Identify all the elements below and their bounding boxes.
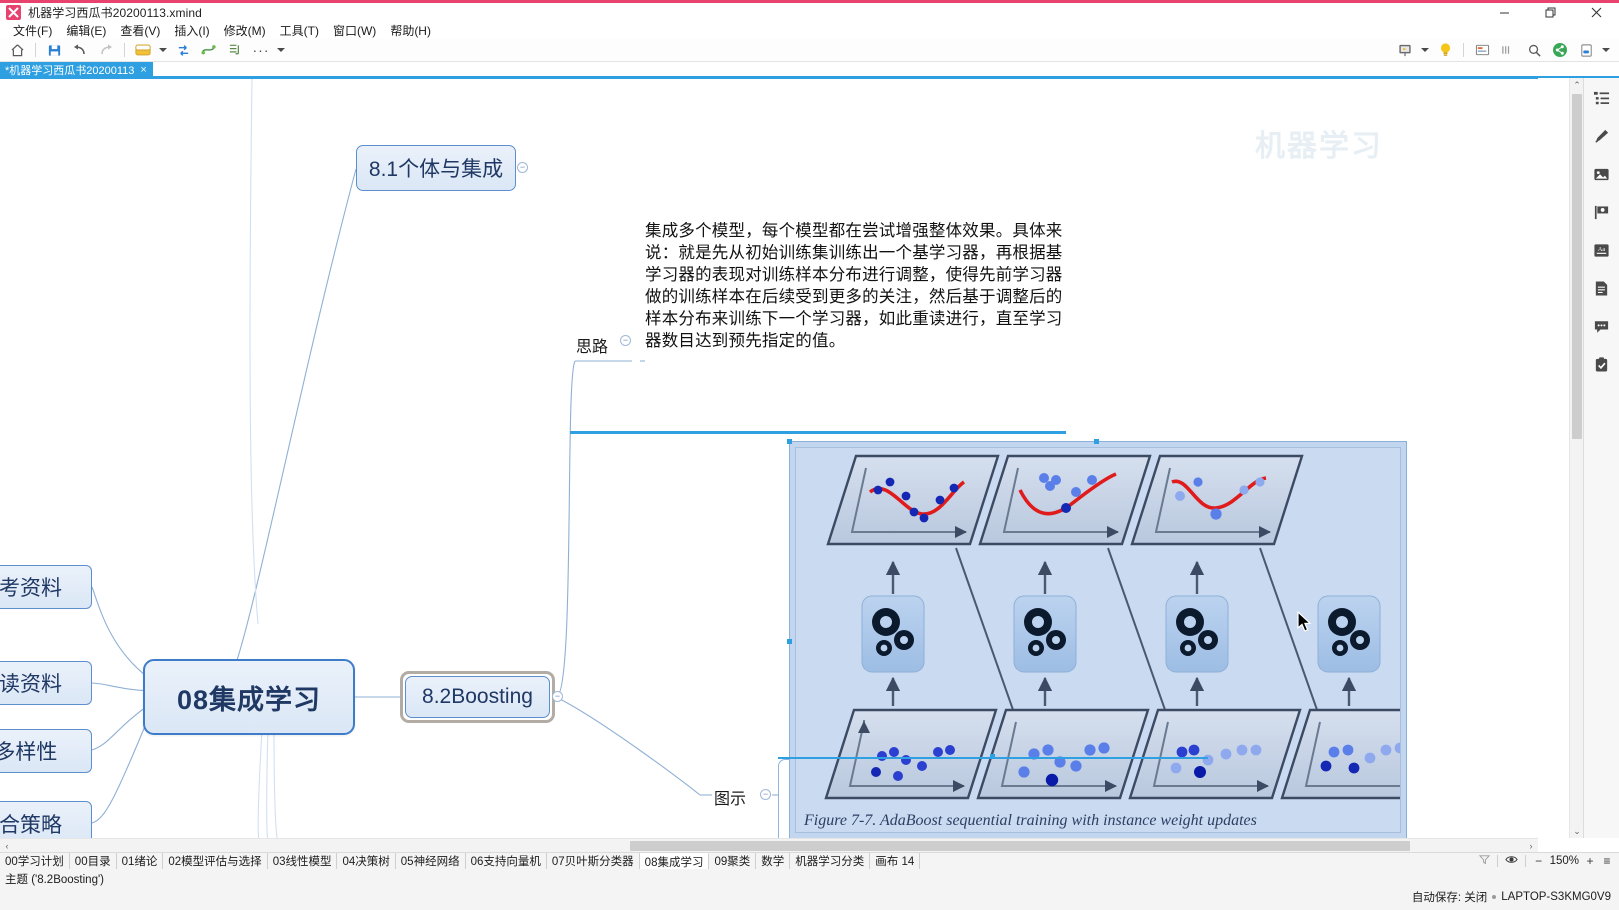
topic-diversity[interactable]: 5多样性: [0, 729, 92, 773]
mindmap-canvas[interactable]: 机器学习: [0, 78, 1538, 838]
figure-handle-top-left[interactable]: [787, 439, 792, 444]
save-icon[interactable]: [41, 40, 67, 61]
horizontal-scroll-thumb[interactable]: [630, 841, 1410, 851]
topic-8-2-boosting[interactable]: 8.2Boosting: [405, 676, 550, 718]
document-tab-close-icon[interactable]: ×: [140, 64, 146, 76]
topic-dropdown-caret-icon[interactable]: [156, 40, 170, 61]
topic-8-1-collapse-icon[interactable]: −: [517, 162, 528, 173]
figure-handle-top-center[interactable]: [1094, 439, 1099, 444]
font-icon[interactable]: Aa: [1590, 238, 1614, 262]
search-icon[interactable]: [1521, 40, 1547, 61]
sheet-tab-9-active[interactable]: 08集成学习: [640, 853, 710, 869]
stage-2: [978, 456, 1170, 798]
sheet-tab-4[interactable]: 03线性模型: [268, 853, 338, 869]
topic-8-2-boosting-selection[interactable]: 8.2Boosting: [400, 671, 555, 723]
figure-caption: Figure 7-7. AdaBoost sequential training…: [804, 812, 1257, 830]
sheet-tab-0[interactable]: 00学习计划: [0, 853, 70, 869]
toolbar: ···: [0, 39, 1619, 62]
topic-8-1-individual-and-ensemble[interactable]: 8.1个体与集成: [356, 145, 516, 191]
menu-bar: 文件(F) 编辑(E) 查看(V) 插入(I) 修改(M) 工具(T) 窗口(W…: [0, 22, 1619, 39]
image-icon[interactable]: [1590, 162, 1614, 186]
document-tab-strip: *机器学习西瓜书20200113 ×: [0, 62, 1619, 78]
central-topic-ensemble-learning[interactable]: 08集成学习: [143, 659, 355, 735]
scroll-right-icon[interactable]: ›: [1524, 839, 1538, 853]
mouse-cursor: [1297, 611, 1313, 635]
svg-text:Aa: Aa: [1598, 246, 1605, 253]
document-tab[interactable]: *机器学习西瓜书20200113 ×: [0, 62, 153, 78]
scroll-down-icon[interactable]: ⌄: [1570, 824, 1584, 838]
menu-insert[interactable]: 插入(I): [167, 23, 216, 39]
figure-handle-middle-left[interactable]: [787, 639, 792, 644]
redo-icon: [93, 40, 119, 61]
zoom-in-button[interactable]: +: [1584, 854, 1596, 868]
close-button[interactable]: [1573, 3, 1619, 22]
sheet-bar-separator-1: [1497, 855, 1498, 867]
adaboost-sequential-training-figure[interactable]: Figure 7-7. AdaBoost sequential training…: [789, 441, 1407, 838]
relationship-icon[interactable]: [196, 40, 222, 61]
status-bar: 主题 ('8.2Boosting') 自动保存: 关闭 LAPTOP-S3KMG…: [0, 869, 1619, 910]
menu-edit[interactable]: 编辑(E): [59, 23, 113, 39]
maximize-restore-button[interactable]: [1527, 3, 1573, 22]
status-selection-label: 主题 ('8.2Boosting'): [5, 871, 1619, 887]
sheet-tab-5[interactable]: 04决策树: [337, 853, 395, 869]
zen-icon[interactable]: [1495, 40, 1521, 61]
marker-flag-icon[interactable]: [1590, 200, 1614, 224]
toolbar-right-group: [1392, 40, 1619, 61]
topic-reading-materials[interactable]: 阅读资料: [0, 661, 92, 705]
outline-icon[interactable]: [1469, 40, 1495, 61]
presentation-icon[interactable]: [1392, 40, 1418, 61]
stage-1: [826, 456, 1018, 798]
status-right-group: 自动保存: 关闭 LAPTOP-S3KMG0V9: [1412, 889, 1611, 905]
more-caret-icon[interactable]: [274, 40, 288, 61]
sheet-tab-7[interactable]: 06支持向量机: [466, 853, 547, 869]
scroll-up-icon[interactable]: ⌃: [1570, 78, 1584, 92]
figure-selection-topbar: [570, 431, 1066, 434]
menu-help[interactable]: 帮助(H): [383, 23, 438, 39]
xmind-application-window: 机器学习西瓜书20200113.xmind 文件(F) 编辑(E) 查看(V) …: [0, 0, 1619, 910]
sheet-tab-8[interactable]: 07贝叶斯分类器: [547, 853, 640, 869]
stage-3: [1130, 456, 1322, 798]
sync-icon[interactable]: [170, 40, 196, 61]
sheet-tab-bar: 00学习计划 00目录 01绪论 02模型评估与选择 03线性模型 04决策树 …: [0, 852, 1619, 869]
scroll-left-icon[interactable]: ‹: [0, 839, 14, 853]
filter-icon[interactable]: [1479, 852, 1490, 870]
status-autosave-label: 自动保存: 关闭: [1412, 889, 1487, 905]
illustration-handle-top-center[interactable]: [990, 754, 995, 759]
zoom-out-button[interactable]: −: [1533, 854, 1545, 868]
notes-document-icon[interactable]: [1590, 276, 1614, 300]
eye-icon[interactable]: [1505, 852, 1518, 870]
zoom-menu-button[interactable]: ≡: [1601, 854, 1613, 868]
menu-tools[interactable]: 工具(T): [273, 23, 326, 39]
topic-8-2-collapse-icon[interactable]: −: [552, 691, 563, 702]
export-caret-icon[interactable]: [1599, 40, 1613, 61]
zoom-level-label[interactable]: 150%: [1550, 855, 1579, 867]
undo-icon[interactable]: [67, 40, 93, 61]
toolbar-separator-1: [35, 43, 36, 57]
brainstorm-bulb-icon[interactable]: [1432, 40, 1458, 61]
topic-illustration-collapse-icon[interactable]: −: [760, 789, 771, 800]
title-bar: 机器学习西瓜书20200113.xmind: [0, 0, 1619, 22]
xmind-app-icon: [6, 5, 21, 20]
menu-modify[interactable]: 修改(M): [217, 23, 273, 39]
window-controls: [1481, 3, 1619, 22]
adaboost-diagram-svg: [796, 448, 1401, 833]
canvas-horizontal-scrollbar[interactable]: ‹ ›: [0, 838, 1538, 852]
sheet-tab-1[interactable]: 00目录: [70, 853, 117, 869]
zoom-control: − 150% + ≡: [1533, 854, 1613, 868]
sheet-bar-right-controls: − 150% + ≡: [1479, 853, 1619, 869]
more-icon[interactable]: ···: [248, 40, 274, 61]
topic-illustration-label[interactable]: 图示: [714, 785, 746, 809]
sheet-tab-13[interactable]: 画布 14: [870, 853, 920, 869]
sheet-tab-11[interactable]: 数学: [756, 853, 790, 869]
topic-idea-label[interactable]: 思路: [576, 333, 608, 357]
topic-combination-strategy[interactable]: 结合策略: [0, 801, 92, 838]
right-sidebar: Aa: [1583, 78, 1619, 838]
minimize-button[interactable]: [1481, 3, 1527, 22]
vertical-scroll-thumb[interactable]: [1572, 94, 1582, 439]
menu-window[interactable]: 窗口(W): [326, 23, 383, 39]
sheet-tab-2[interactable]: 01绪论: [117, 853, 164, 869]
export-icon[interactable]: [1573, 40, 1599, 61]
document-tab-label: *机器学习西瓜书20200113: [5, 62, 134, 78]
comment-icon[interactable]: [1590, 314, 1614, 338]
sheet-tab-12[interactable]: 机器学习分类: [790, 853, 870, 869]
menu-view[interactable]: 查看(V): [113, 23, 167, 39]
menu-file[interactable]: 文件(F): [6, 23, 59, 39]
canvas-vertical-scrollbar[interactable]: ⌃ ⌄: [1569, 78, 1583, 838]
sheet-bar-separator-2: [1525, 855, 1526, 867]
status-device-label: LAPTOP-S3KMG0V9: [1501, 891, 1611, 903]
format-brush-icon[interactable]: [1590, 124, 1614, 148]
home-icon[interactable]: [4, 40, 30, 61]
topic-icon[interactable]: [130, 40, 156, 61]
presentation-caret-icon[interactable]: [1418, 40, 1432, 61]
structure-icon[interactable]: [222, 40, 248, 61]
topic-reference-materials[interactable]: 参考资料: [0, 565, 92, 609]
window-title: 机器学习西瓜书20200113.xmind: [28, 4, 202, 21]
outline-list-icon[interactable]: [1590, 86, 1614, 110]
topic-idea-collapse-icon[interactable]: −: [620, 335, 631, 346]
share-icon[interactable]: [1547, 40, 1573, 61]
sheet-tab-6[interactable]: 05神经网络: [396, 853, 466, 869]
toolbar-separator-3: [1463, 43, 1464, 57]
task-checklist-icon[interactable]: [1590, 352, 1614, 376]
figure-image: Figure 7-7. AdaBoost sequential training…: [795, 447, 1401, 833]
sheet-tab-10[interactable]: 09聚类: [709, 853, 756, 869]
topic-idea-text[interactable]: 集成多个模型，每个模型都在尝试增强整体效果。具体来 说：就是先从初始训练集训练出…: [645, 220, 1065, 352]
status-separator-dot: [1492, 895, 1496, 899]
toolbar-separator-2: [124, 43, 125, 57]
sheet-tab-3[interactable]: 02模型评估与选择: [163, 853, 267, 869]
